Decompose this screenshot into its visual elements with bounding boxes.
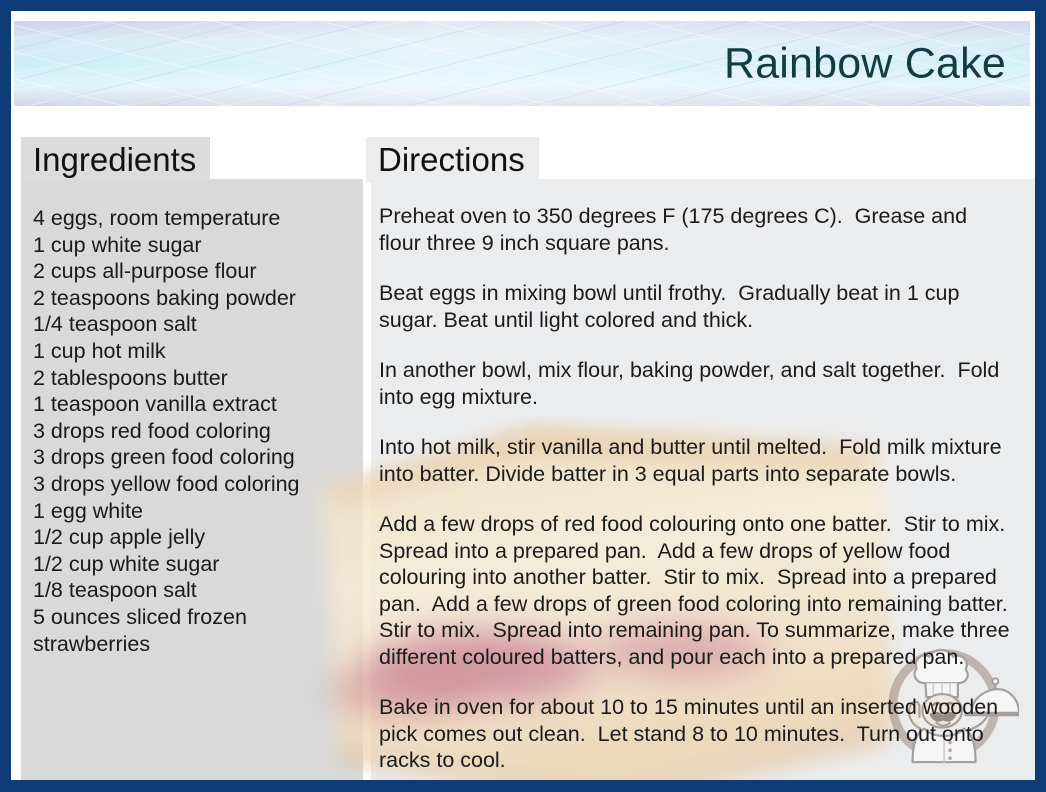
directions-text: Preheat oven to 350 degrees F (175 degre… [379, 203, 1013, 780]
ingredient-item: 3 drops green food coloring [33, 444, 357, 471]
page-title: Rainbow Cake [724, 39, 1006, 88]
directions-heading-tab: Directions [366, 137, 539, 182]
ingredient-item: 3 drops red food coloring [33, 418, 357, 445]
ingredient-item: 1 teaspoon vanilla extract [33, 391, 357, 418]
ingredient-item: 1/2 cup white sugar [33, 551, 357, 578]
ingredient-item: 1 cup white sugar [33, 232, 357, 259]
ingredient-item: 1/4 teaspoon salt [33, 311, 357, 338]
direction-paragraph: Bake in oven for about 10 to 15 minutes … [379, 694, 1013, 774]
direction-paragraph: Add a few drops of red food colouring on… [379, 511, 1013, 670]
directions-panel: Preheat oven to 350 degrees F (175 degre… [371, 179, 1035, 780]
direction-paragraph: Into hot milk, stir vanilla and butter u… [379, 434, 1013, 487]
ingredient-item: 1 cup hot milk [33, 338, 357, 365]
ingredient-item: 1/2 cup apple jelly [33, 524, 357, 551]
recipe-card: Rainbow Cake Ingredients Directions 4 eg… [0, 0, 1046, 792]
page-surface: Rainbow Cake Ingredients Directions 4 eg… [11, 11, 1035, 780]
ingredient-item: 2 cups all-purpose flour [33, 258, 357, 285]
ingredients-list: 4 eggs, room temperature1 cup white suga… [33, 205, 357, 657]
ingredient-item: 2 teaspoons baking powder [33, 285, 357, 312]
direction-paragraph: Beat eggs in mixing bowl until frothy. G… [379, 280, 1013, 333]
ingredient-item: 3 drops yellow food coloring [33, 471, 357, 498]
ingredient-item: 1 egg white [33, 498, 357, 525]
ingredient-item: 1/8 teaspoon salt [33, 577, 357, 604]
direction-paragraph: Preheat oven to 350 degrees F (175 degre… [379, 203, 1013, 256]
ingredients-panel: 4 eggs, room temperature1 cup white suga… [21, 179, 363, 780]
ingredient-item: 2 tablespoons butter [33, 365, 357, 392]
ingredients-heading-tab: Ingredients [21, 137, 210, 182]
direction-paragraph: In another bowl, mix flour, baking powde… [379, 357, 1013, 410]
ingredient-item: 5 ounces sliced frozen strawberries [33, 604, 357, 657]
title-banner: Rainbow Cake [14, 21, 1030, 106]
ingredient-item: 4 eggs, room temperature [33, 205, 357, 232]
